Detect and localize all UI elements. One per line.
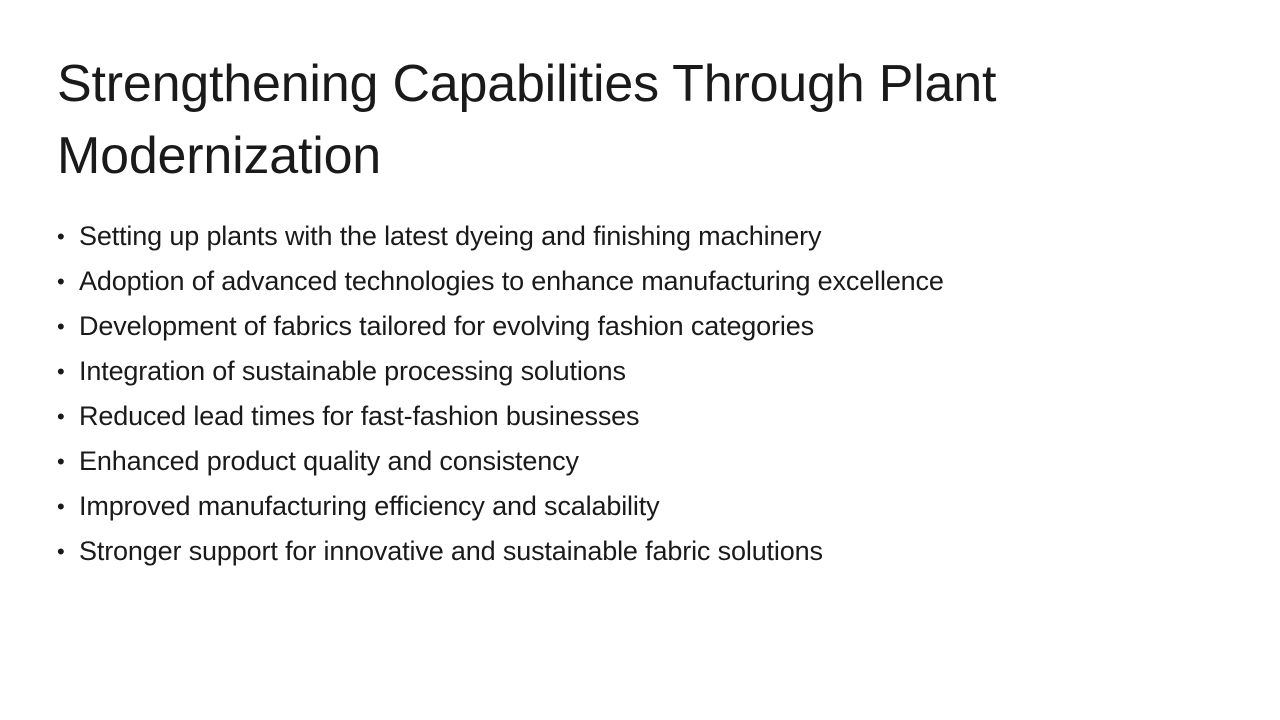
list-item-label: Development of fabrics tailored for evol… [79,304,814,349]
list-item: •Reduced lead times for fast-fashion bus… [57,394,1247,439]
list-item: •Adoption of advanced technologies to en… [57,259,1247,304]
bullet-dot-icon: • [57,394,79,439]
bullet-dot-icon: • [57,349,79,394]
list-item-label: Improved manufacturing efficiency and sc… [79,484,659,529]
bullet-dot-icon: • [57,304,79,349]
list-item-label: Integration of sustainable processing so… [79,349,626,394]
list-item: •Setting up plants with the latest dyein… [57,214,1247,259]
list-item-label: Stronger support for innovative and sust… [79,529,823,574]
list-item-label: Adoption of advanced technologies to enh… [79,259,944,304]
list-item-label: Enhanced product quality and consistency [79,439,579,484]
bullet-list: •Setting up plants with the latest dyein… [57,214,1247,574]
list-item: •Development of fabrics tailored for evo… [57,304,1247,349]
list-item-label: Reduced lead times for fast-fashion busi… [79,394,639,439]
bullet-dot-icon: • [57,439,79,484]
bullet-dot-icon: • [57,484,79,529]
list-item: •Enhanced product quality and consistenc… [57,439,1247,484]
bullet-dot-icon: • [57,259,79,304]
list-item: •Improved manufacturing efficiency and s… [57,484,1247,529]
list-item-label: Setting up plants with the latest dyeing… [79,214,821,259]
list-item: •Stronger support for innovative and sus… [57,529,1247,574]
page-title: Strengthening Capabilities Through Plant… [57,48,1207,192]
bullet-dot-icon: • [57,214,79,259]
bullet-dot-icon: • [57,529,79,574]
list-item: •Integration of sustainable processing s… [57,349,1247,394]
slide-canvas: Strengthening Capabilities Through Plant… [0,0,1280,720]
